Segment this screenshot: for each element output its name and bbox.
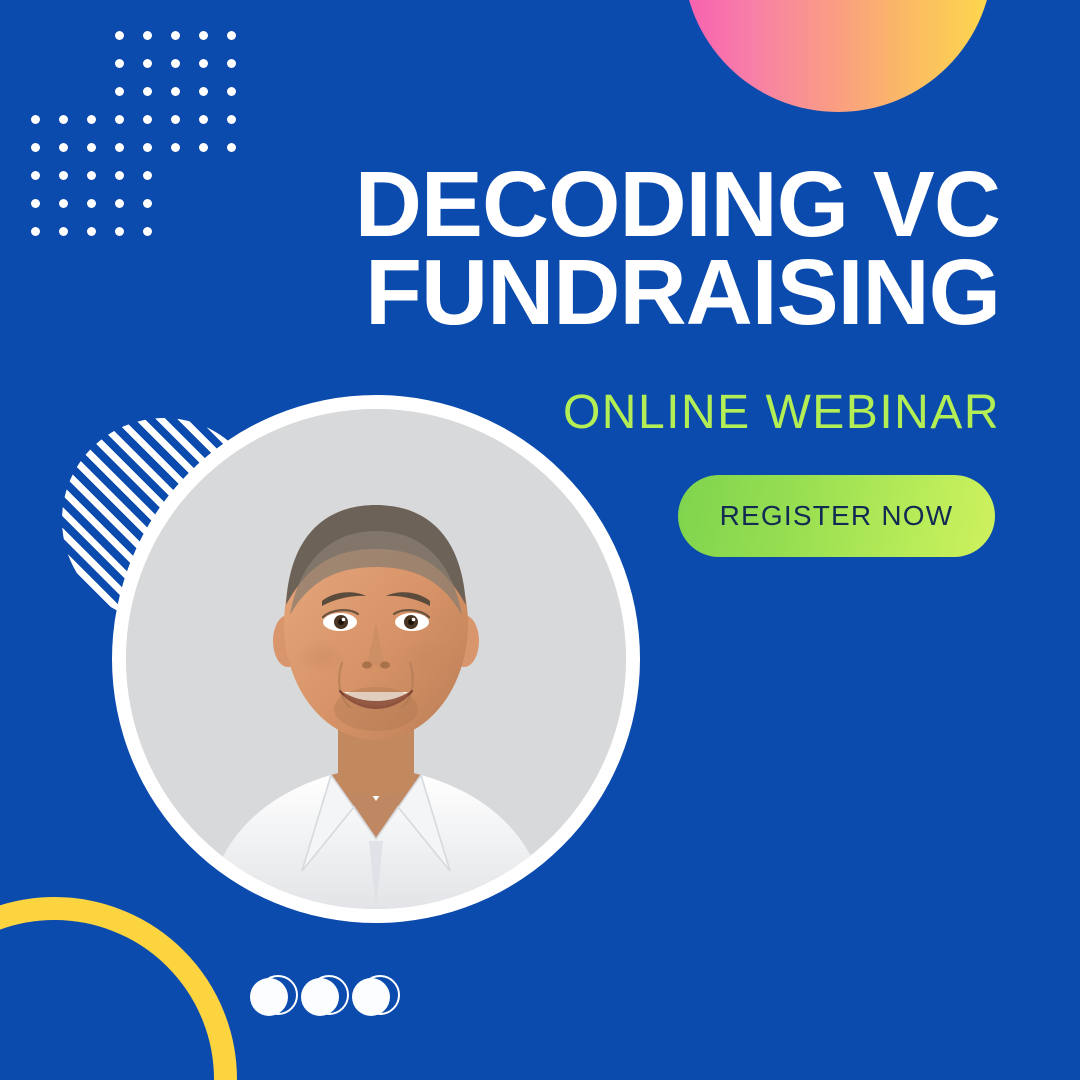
dot-grid-dot [171,87,180,96]
dot-grid-dot [227,143,236,152]
dot-grid-dot [59,143,68,152]
dot-trio-ring [309,975,349,1015]
dot-grid-dot [115,87,124,96]
dot-grid-dot [171,115,180,124]
dot-grid-dot [87,115,96,124]
dot-trio [250,975,400,1027]
dot-grid-dot [115,59,124,68]
register-now-button[interactable]: REGISTER NOW [678,475,995,557]
gradient-circle [683,0,993,112]
dot-trio-item [301,975,349,1023]
dot-grid-dot [143,115,152,124]
dot-grid-dot [171,59,180,68]
dot-grid-dot [59,199,68,208]
dot-trio-item [352,975,400,1023]
dot-trio-item [250,975,298,1023]
dot-grid-dot [87,227,96,236]
cta-row: REGISTER NOW [300,475,1000,557]
dot-grid-dot [59,227,68,236]
dot-grid-dot [31,171,40,180]
dot-trio-ring [258,975,298,1015]
dot-grid-dot [199,143,208,152]
dot-grid-dot [227,115,236,124]
dot-grid-dot [227,59,236,68]
dot-grid-dot [87,171,96,180]
dot-grid-dot [227,87,236,96]
dot-grid-dot [115,143,124,152]
dot-grid-dot [115,199,124,208]
title-line-1: DECODING VC [300,160,1000,248]
subtitle: ONLINE WEBINAR [300,389,1000,437]
dot-grid-dot [227,31,236,40]
dot-grid-dot [31,115,40,124]
dot-grid-dot [199,59,208,68]
dot-grid-dot [115,171,124,180]
title-line-2: FUNDRAISING [300,248,1000,336]
dot-grid-dot [115,115,124,124]
dot-grid-dot [59,171,68,180]
dot-grid-dot [171,31,180,40]
dot-grid-dot [59,115,68,124]
dot-grid-dot [143,171,152,180]
dot-grid-dot [143,227,152,236]
dot-grid-dot [199,87,208,96]
dot-grid-dot [87,199,96,208]
webinar-poster: DECODING VC FUNDRAISING ONLINE WEBINAR R… [0,0,1080,1080]
dot-grid-dot [31,143,40,152]
dot-trio-ring [360,975,400,1015]
page-title: DECODING VC FUNDRAISING [300,160,1000,337]
dot-grid-dot [31,199,40,208]
dot-grid-dot [115,31,124,40]
yellow-ring [0,897,237,1080]
dot-grid-dot [143,199,152,208]
poster-content: DECODING VC FUNDRAISING ONLINE WEBINAR R… [300,160,1000,557]
dot-trio-fill [301,978,339,1016]
dot-grid-dot [199,115,208,124]
dot-grid-dot [199,31,208,40]
dot-grid-dot [31,227,40,236]
dot-grid-dot [143,143,152,152]
dot-grid-dot [87,143,96,152]
dot-trio-fill [250,978,288,1016]
dot-grid-dot [143,87,152,96]
dot-trio-fill [352,978,390,1016]
dot-grid-dot [143,31,152,40]
dot-grid [31,31,227,227]
dot-grid-dot [143,59,152,68]
dot-grid-dot [115,227,124,236]
dot-grid-dot [171,143,180,152]
